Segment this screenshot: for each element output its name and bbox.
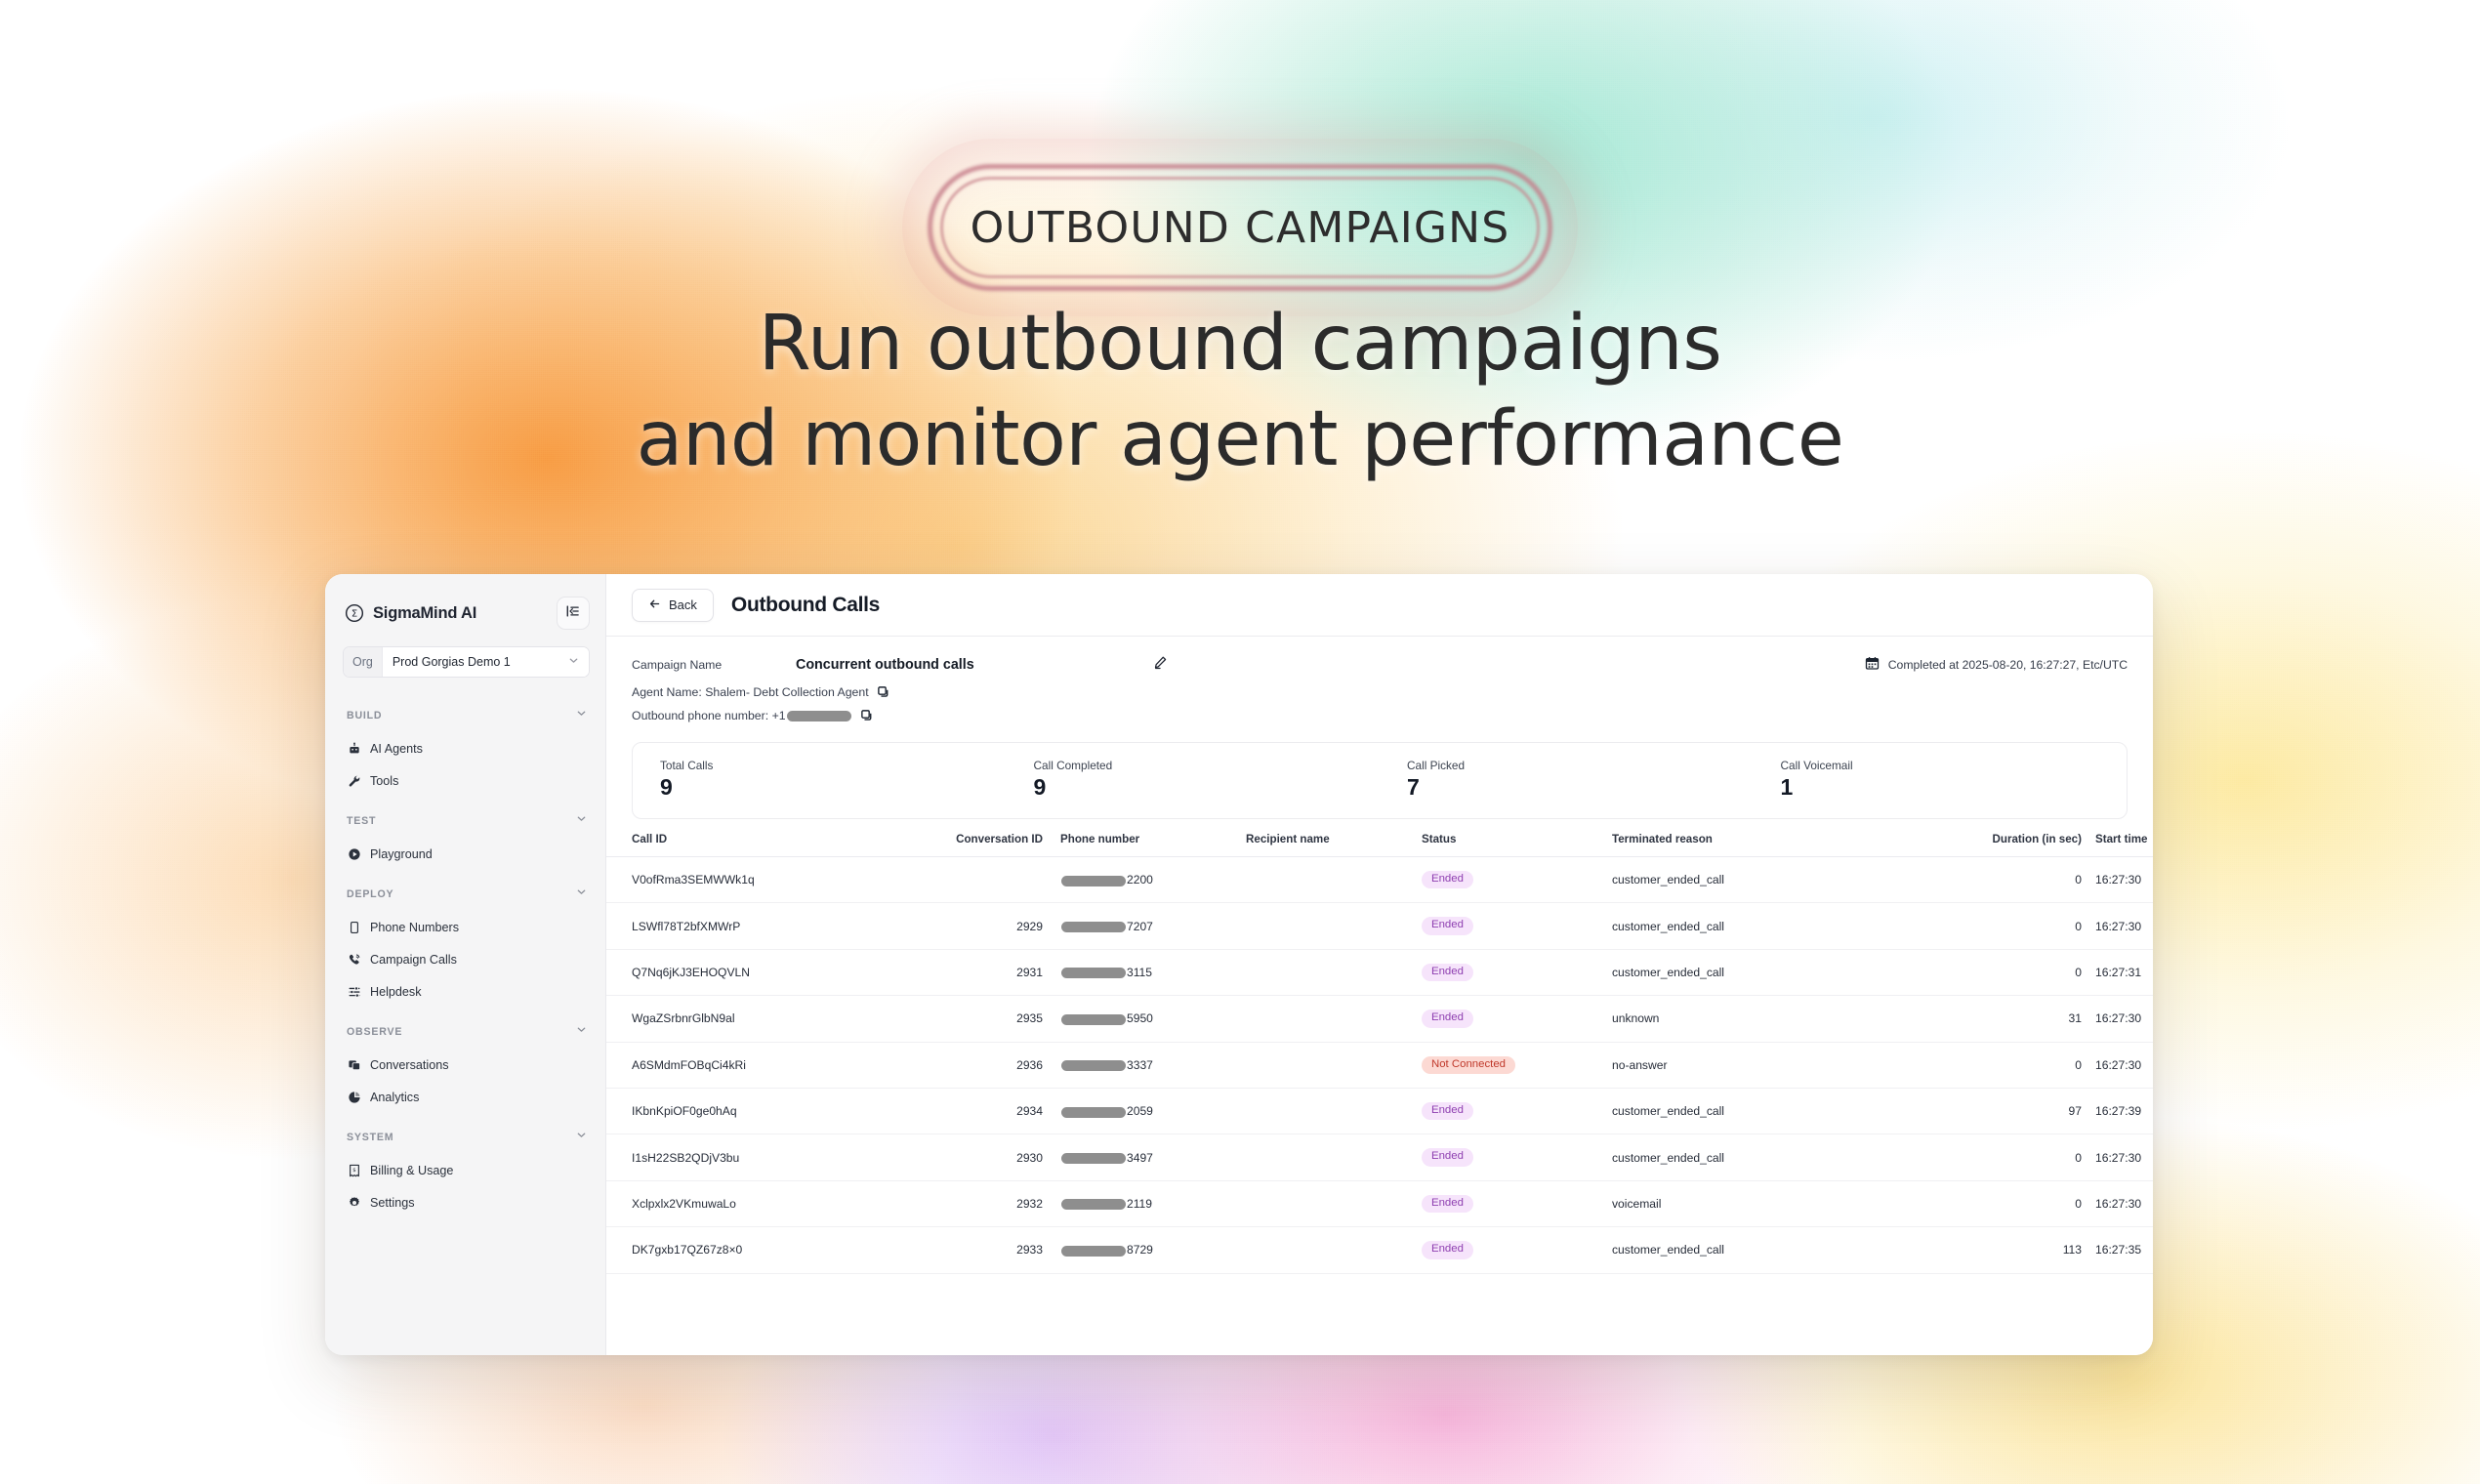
table-bottom-pad	[606, 1274, 2153, 1296]
brand[interactable]: Σ SigmaMind AI	[345, 603, 476, 623]
sidebar-group-build[interactable]: BUILD	[325, 699, 605, 732]
copy-phone-number-button[interactable]	[860, 709, 874, 722]
col-header-convid[interactable]: Conversation ID	[889, 833, 1060, 857]
stat-label: Call Completed	[1034, 759, 1381, 772]
phone-suffix: 3337	[1127, 1058, 1153, 1072]
cell-recipient-name	[1246, 1089, 1422, 1134]
page-topbar: Back Outbound Calls	[606, 574, 2153, 637]
phone-suffix: 8729	[1127, 1243, 1153, 1257]
status-badge: Ended	[1422, 871, 1473, 888]
cell-conversation-id: 2930	[889, 1134, 1060, 1180]
page-title: Outbound Calls	[731, 594, 880, 617]
app-window: Σ SigmaMind AI Org	[325, 574, 2153, 1355]
cell-duration: 0	[1924, 1134, 2095, 1180]
cell-start-time: 16:27:35	[2095, 1227, 2153, 1273]
stat-value: 7	[1407, 774, 1754, 801]
sidebar-item-tools[interactable]: Tools	[325, 764, 605, 797]
cell-call-id: IKbnKpiOF0ge0hAq	[606, 1089, 889, 1134]
hero-headline: Run outbound campaigns and monitor agent…	[0, 303, 2480, 480]
cell-call-id: A6SMdmFOBqCi4kRi	[606, 1042, 889, 1088]
col-header-recip[interactable]: Recipient name	[1246, 833, 1422, 857]
phone-suffix: 7207	[1127, 920, 1153, 933]
cell-phone-number: 2059	[1060, 1089, 1246, 1134]
sidebar-item-playground[interactable]: Playground	[325, 838, 605, 870]
sidebar-item-label: Tools	[370, 774, 398, 788]
cell-status: Ended	[1422, 1089, 1612, 1134]
redacted-phone-number	[1061, 1107, 1126, 1118]
agent-name-text: Agent Name: Shalem- Debt Collection Agen…	[632, 685, 869, 699]
wrench-icon	[347, 773, 361, 788]
cell-conversation-id: 2932	[889, 1180, 1060, 1226]
cell-terminated-reason: customer_ended_call	[1612, 1134, 1924, 1180]
receipt-icon: $	[347, 1163, 361, 1177]
cell-call-id: WgaZSrbnrGlbN9al	[606, 996, 889, 1042]
sidebar-collapse-button[interactable]	[557, 597, 590, 630]
campaign-name-label: Campaign Name	[632, 658, 796, 672]
calls-table-body: V0ofRma3SEMWWk1q2200Endedcustomer_ended_…	[606, 857, 2153, 1274]
stat-total-calls: Total Calls9	[633, 759, 1007, 801]
redacted-phone-number	[1061, 968, 1126, 978]
cell-start-time: 16:27:30	[2095, 1180, 2153, 1226]
status-badge: Ended	[1422, 917, 1473, 934]
cell-terminated-reason: customer_ended_call	[1612, 857, 1924, 903]
cell-recipient-name	[1246, 1227, 1422, 1273]
cell-terminated-reason: unknown	[1612, 996, 1924, 1042]
table-row[interactable]: DK7gxb17QZ67z8×029338729Endedcustomer_en…	[606, 1227, 2153, 1273]
cell-call-id: Xclpxlx2VKmuwaLo	[606, 1180, 889, 1226]
sidebar-nav: BUILDAI AgentsToolsTESTPlaygroundDEPLOYP…	[325, 691, 605, 1355]
sidebar-item-analytics[interactable]: Analytics	[325, 1081, 605, 1113]
completed-at-text: Completed at 2025-08-20, 16:27:27, Etc/U…	[1888, 658, 2128, 672]
sidebar-item-label: Phone Numbers	[370, 921, 459, 934]
sidebar-group-label: DEPLOY	[347, 888, 393, 900]
pie-chart-icon	[347, 1090, 361, 1104]
chat-icon	[347, 1057, 361, 1072]
cell-duration: 0	[1924, 903, 2095, 949]
cell-duration: 0	[1924, 949, 2095, 995]
cell-start-time: 16:27:30	[2095, 903, 2153, 949]
sidebar-item-label: Billing & Usage	[370, 1164, 453, 1177]
phone-suffix: 5950	[1127, 1011, 1153, 1025]
cell-start-time: 16:27:30	[2095, 996, 2153, 1042]
stat-call-picked: Call Picked7	[1380, 759, 1754, 801]
status-badge: Ended	[1422, 1241, 1473, 1258]
cell-conversation-id: 2929	[889, 903, 1060, 949]
redacted-phone-number	[1061, 876, 1126, 886]
col-header-callid[interactable]: Call ID	[606, 833, 889, 857]
status-badge: Ended	[1422, 1195, 1473, 1213]
back-button[interactable]: Back	[632, 589, 714, 622]
sidebar-group-test[interactable]: TEST	[325, 804, 605, 838]
cell-call-id: V0ofRma3SEMWWk1q	[606, 857, 889, 903]
cell-conversation-id	[889, 857, 1060, 903]
cell-duration: 31	[1924, 996, 2095, 1042]
cell-start-time: 16:27:30	[2095, 857, 2153, 903]
chevron-down-icon	[575, 1129, 588, 1146]
sidebar-item-label: Settings	[370, 1196, 415, 1210]
col-header-reason[interactable]: Terminated reason	[1612, 833, 1924, 857]
table-row[interactable]: I1sH22SB2QDjV3bu29303497Endedcustomer_en…	[606, 1134, 2153, 1180]
hero-headline-line2: and monitor agent performance	[0, 398, 2480, 480]
chevron-down-icon	[575, 1023, 588, 1041]
cell-recipient-name	[1246, 1180, 1422, 1226]
cell-phone-number: 2200	[1060, 857, 1246, 903]
status-badge: Ended	[1422, 964, 1473, 981]
arrow-left-icon	[648, 598, 661, 613]
cell-recipient-name	[1246, 903, 1422, 949]
table-row[interactable]: WgaZSrbnrGlbN9al29355950Endedunknown3116…	[606, 996, 2153, 1042]
cell-terminated-reason: customer_ended_call	[1612, 903, 1924, 949]
cell-phone-number: 5950	[1060, 996, 1246, 1042]
outbound-phone-text: Outbound phone number: +1	[632, 709, 852, 722]
sidebar-item-conversations[interactable]: Conversations	[325, 1049, 605, 1081]
outbound-phone-prefix: Outbound phone number:	[632, 709, 772, 722]
cell-terminated-reason: customer_ended_call	[1612, 1089, 1924, 1134]
cell-phone-number: 7207	[1060, 903, 1246, 949]
brand-name: SigmaMind AI	[373, 604, 476, 623]
sidebar-item-label: Campaign Calls	[370, 953, 457, 967]
cell-terminated-reason: customer_ended_call	[1612, 1227, 1924, 1273]
sidebar-group-observe[interactable]: OBSERVE	[325, 1015, 605, 1049]
outbound-campaigns-badge: OUTBOUND CAMPAIGNS	[928, 164, 1552, 291]
cell-call-id: DK7gxb17QZ67z8×0	[606, 1227, 889, 1273]
sidebar-brand-row: Σ SigmaMind AI	[325, 588, 605, 633]
stat-value: 9	[660, 774, 1007, 801]
cell-conversation-id: 2933	[889, 1227, 1060, 1273]
phone-suffix: 2200	[1127, 873, 1153, 886]
calls-table-head: Call IDConversation IDPhone numberRecipi…	[606, 833, 2153, 857]
chevron-down-icon	[567, 654, 580, 670]
cell-status: Ended	[1422, 949, 1612, 995]
cell-terminated-reason: customer_ended_call	[1612, 949, 1924, 995]
redacted-phone-number	[1061, 922, 1126, 932]
stat-label: Call Voicemail	[1781, 759, 2128, 772]
cell-duration: 0	[1924, 1180, 2095, 1226]
stat-call-voicemail: Call Voicemail1	[1754, 759, 2128, 801]
stat-value: 9	[1034, 774, 1381, 801]
edit-campaign-button[interactable]	[1150, 654, 1172, 676]
redacted-phone-number	[1061, 1060, 1126, 1071]
calls-table-header-row: Call IDConversation IDPhone numberRecipi…	[606, 833, 2153, 857]
status-badge: Ended	[1422, 1148, 1473, 1166]
phone-rect-icon	[347, 920, 361, 934]
col-header-phone[interactable]: Phone number	[1060, 833, 1246, 857]
outbound-phone-country-code: +1	[772, 709, 786, 722]
cell-status: Ended	[1422, 1134, 1612, 1180]
cell-terminated-reason: no-answer	[1612, 1042, 1924, 1088]
svg-text:$: $	[352, 1168, 356, 1174]
chevron-down-icon	[575, 886, 588, 903]
outbound-phone-line: Outbound phone number: +1	[632, 709, 2128, 722]
calendar-icon	[1865, 656, 1880, 674]
cell-terminated-reason: voicemail	[1612, 1180, 1924, 1226]
org-value-text: Prod Gorgias Demo 1	[393, 655, 511, 669]
redacted-phone-number	[787, 711, 851, 721]
cell-phone-number: 3337	[1060, 1042, 1246, 1088]
copy-agent-name-button[interactable]	[877, 685, 890, 699]
sidebar-group-label: BUILD	[347, 710, 382, 721]
sidebar-item-settings[interactable]: Settings	[325, 1186, 605, 1218]
phone-suffix: 3115	[1127, 966, 1152, 979]
chevron-down-icon	[575, 812, 588, 830]
sidebar: Σ SigmaMind AI Org	[325, 574, 606, 1355]
stat-value: 1	[1781, 774, 2128, 801]
cell-phone-number: 3497	[1060, 1134, 1246, 1180]
main-content: Back Outbound Calls Campaign Name Concur…	[606, 574, 2153, 1355]
cell-call-id: I1sH22SB2QDjV3bu	[606, 1134, 889, 1180]
table-row[interactable]: LSWfl78T2bfXMWrP29297207Endedcustomer_en…	[606, 903, 2153, 949]
org-label: Org	[344, 647, 383, 677]
calls-table-wrap: Call IDConversation IDPhone numberRecipi…	[606, 833, 2153, 1355]
phone-call-icon	[347, 952, 361, 967]
sliders-icon	[347, 984, 361, 999]
cell-duration: 97	[1924, 1089, 2095, 1134]
cell-recipient-name	[1246, 857, 1422, 903]
cell-duration: 0	[1924, 1042, 2095, 1088]
sidebar-item-label: Helpdesk	[370, 985, 422, 999]
status-badge: Ended	[1422, 1102, 1473, 1120]
campaign-name-value: Concurrent outbound calls	[796, 657, 974, 673]
cell-call-id: LSWfl78T2bfXMWrP	[606, 903, 889, 949]
stat-label: Total Calls	[660, 759, 1007, 772]
sidebar-group-label: OBSERVE	[347, 1026, 402, 1038]
cell-start-time: 16:27:30	[2095, 1042, 2153, 1088]
sigmamind-logo-icon: Σ	[345, 603, 364, 623]
table-row[interactable]: Xclpxlx2VKmuwaLo29322119Endedvoicemail01…	[606, 1180, 2153, 1226]
cell-recipient-name	[1246, 1042, 1422, 1088]
redacted-phone-number	[1061, 1199, 1126, 1210]
cell-duration: 0	[1924, 857, 2095, 903]
chevron-down-icon	[575, 707, 588, 724]
stats-card: Total Calls9Call Completed9Call Picked7C…	[632, 742, 2128, 819]
cell-recipient-name	[1246, 1134, 1422, 1180]
sidebar-item-label: Conversations	[370, 1058, 449, 1072]
sidebar-item-label: Analytics	[370, 1091, 419, 1104]
cell-start-time: 16:27:31	[2095, 949, 2153, 995]
gear-icon	[347, 1195, 361, 1210]
status-badge: Ended	[1422, 1010, 1473, 1027]
pencil-icon	[1153, 655, 1168, 675]
completed-at: Completed at 2025-08-20, 16:27:27, Etc/U…	[1865, 656, 2128, 674]
table-row[interactable]: V0ofRma3SEMWWk1q2200Endedcustomer_ended_…	[606, 857, 2153, 903]
table-row[interactable]: IKbnKpiOF0ge0hAq29342059Endedcustomer_en…	[606, 1089, 2153, 1134]
cell-recipient-name	[1246, 996, 1422, 1042]
agent-name-prefix: Agent Name:	[632, 685, 705, 699]
cell-conversation-id: 2936	[889, 1042, 1060, 1088]
agent-name-value: Shalem- Debt Collection Agent	[705, 685, 868, 699]
calls-table: Call IDConversation IDPhone numberRecipi…	[606, 833, 2153, 1274]
cell-status: Not Connected	[1422, 1042, 1612, 1088]
status-badge: Not Connected	[1422, 1056, 1515, 1074]
back-button-label: Back	[669, 598, 697, 612]
cell-conversation-id: 2934	[889, 1089, 1060, 1134]
cell-duration: 113	[1924, 1227, 2095, 1273]
table-row[interactable]: A6SMdmFOBqCi4kRi29363337Not Connectedno-…	[606, 1042, 2153, 1088]
svg-text:Σ: Σ	[351, 609, 357, 620]
sidebar-group-label: TEST	[347, 815, 376, 827]
table-row[interactable]: Q7Nq6jKJ3EHOQVLN29313115Endedcustomer_en…	[606, 949, 2153, 995]
cell-conversation-id: 2931	[889, 949, 1060, 995]
sidebar-group-label: SYSTEM	[347, 1132, 393, 1143]
phone-suffix: 3497	[1127, 1151, 1153, 1165]
redacted-phone-number	[1061, 1014, 1126, 1025]
sidebar-group-system[interactable]: SYSTEM	[325, 1121, 605, 1154]
cell-status: Ended	[1422, 1180, 1612, 1226]
panel-collapse-icon	[565, 603, 581, 624]
cell-phone-number: 2119	[1060, 1180, 1246, 1226]
cell-conversation-id: 2935	[889, 996, 1060, 1042]
cell-status: Ended	[1422, 996, 1612, 1042]
campaign-summary: Campaign Name Concurrent outbound calls	[606, 637, 2153, 736]
sidebar-item-ai-agents[interactable]: AI Agents	[325, 732, 605, 764]
sidebar-item-label: AI Agents	[370, 742, 423, 756]
play-circle-icon	[347, 846, 361, 861]
sidebar-item-phone-numbers[interactable]: Phone Numbers	[325, 911, 605, 943]
agent-name-line: Agent Name: Shalem- Debt Collection Agen…	[632, 685, 2128, 699]
robot-icon	[347, 741, 361, 756]
sidebar-group-deploy[interactable]: DEPLOY	[325, 878, 605, 911]
cell-status: Ended	[1422, 857, 1612, 903]
redacted-phone-number	[1061, 1153, 1126, 1164]
cell-phone-number: 8729	[1060, 1227, 1246, 1273]
sidebar-item-billing-usage[interactable]: $Billing & Usage	[325, 1154, 605, 1186]
cell-status: Ended	[1422, 1227, 1612, 1273]
col-header-dur[interactable]: Duration (in sec)	[1924, 833, 2095, 857]
badge-label: OUTBOUND CAMPAIGNS	[971, 203, 1510, 253]
cell-call-id: Q7Nq6jKJ3EHOQVLN	[606, 949, 889, 995]
sidebar-item-helpdesk[interactable]: Helpdesk	[325, 975, 605, 1008]
phone-suffix: 2059	[1127, 1104, 1153, 1118]
cell-status: Ended	[1422, 903, 1612, 949]
stat-label: Call Picked	[1407, 759, 1754, 772]
sidebar-item-label: Playground	[370, 847, 433, 861]
cell-start-time: 16:27:39	[2095, 1089, 2153, 1134]
org-value[interactable]: Prod Gorgias Demo 1	[383, 647, 589, 677]
phone-suffix: 2119	[1127, 1197, 1152, 1211]
col-header-status[interactable]: Status	[1422, 833, 1612, 857]
col-header-start[interactable]: Start time	[2095, 833, 2153, 857]
sidebar-item-campaign-calls[interactable]: Campaign Calls	[325, 943, 605, 975]
stat-call-completed: Call Completed9	[1007, 759, 1381, 801]
cell-start-time: 16:27:30	[2095, 1134, 2153, 1180]
cell-phone-number: 3115	[1060, 949, 1246, 995]
cell-recipient-name	[1246, 949, 1422, 995]
hero-headline-line1: Run outbound campaigns	[759, 300, 1722, 388]
org-selector[interactable]: Org Prod Gorgias Demo 1	[343, 646, 590, 678]
redacted-phone-number	[1061, 1246, 1126, 1257]
